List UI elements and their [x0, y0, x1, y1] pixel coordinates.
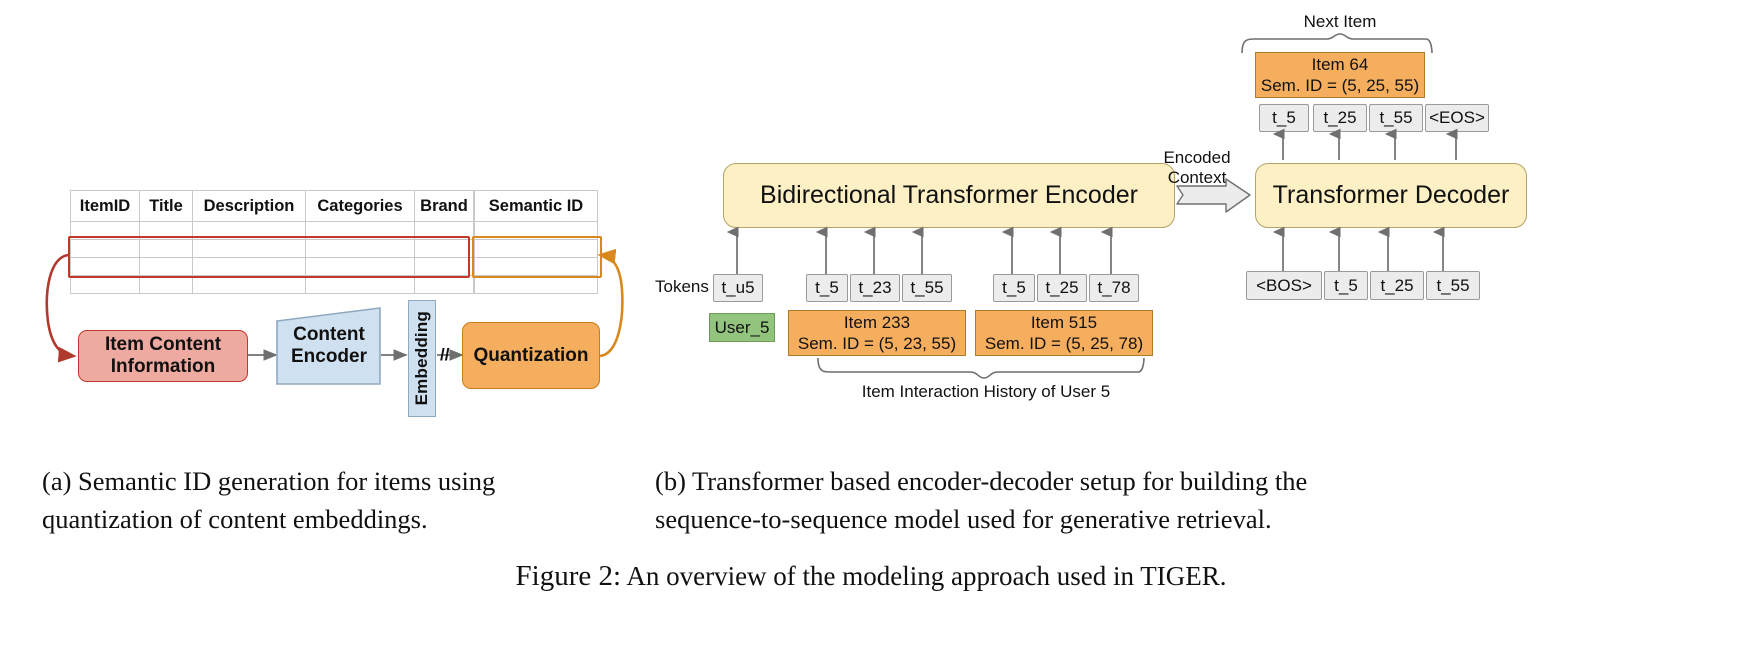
panel-b-caption-line1: (b) Transformer based encoder-decoder se… — [655, 462, 1515, 500]
figure-number: Figure 2: — [516, 560, 622, 592]
tokens-label: Tokens — [655, 277, 709, 297]
panel-b-caption: (b) Transformer based encoder-decoder se… — [655, 462, 1515, 539]
input-item-0-token-0: t_5 — [806, 274, 848, 302]
input-item-1-semantic-id: Sem. ID = (5, 25, 78) — [985, 333, 1143, 354]
panel-a-caption-line2: quantization of content embeddings. — [42, 500, 642, 538]
input-item-1-box: Item 515 Sem. ID = (5, 25, 78) — [975, 310, 1153, 356]
decoder-input-2: t_25 — [1370, 271, 1424, 300]
panel-b-caption-line2: sequence-to-sequence model used for gene… — [655, 500, 1515, 538]
input-item-1-token-2: t_78 — [1089, 274, 1139, 302]
decoder-input-1: t_5 — [1324, 271, 1368, 300]
user-token: t_u5 — [713, 274, 763, 302]
panel-a-caption: (a) Semantic ID generation for items usi… — [42, 462, 642, 539]
input-item-0-semantic-id: Sem. ID = (5, 23, 55) — [798, 333, 956, 354]
panel-a-caption-line1: (a) Semantic ID generation for items usi… — [42, 462, 642, 500]
input-item-1-title: Item 515 — [1031, 312, 1097, 333]
input-item-0-token-1: t_23 — [850, 274, 900, 302]
input-item-0-box: Item 233 Sem. ID = (5, 23, 55) — [788, 310, 966, 356]
figure-caption-text: An overview of the modeling approach use… — [626, 561, 1226, 591]
input-item-1-token-0: t_5 — [993, 274, 1035, 302]
user-box: User_5 — [709, 313, 775, 342]
history-label: Item Interaction History of User 5 — [820, 382, 1152, 402]
figure-canvas: ItemID Title Description Categories Bran… — [0, 0, 1742, 670]
input-item-0-title: Item 233 — [844, 312, 910, 333]
input-item-0-token-2: t_55 — [902, 274, 952, 302]
decoder-input-3: t_55 — [1426, 271, 1480, 300]
input-item-1-token-1: t_25 — [1037, 274, 1087, 302]
decoder-input-0: <BOS> — [1246, 271, 1322, 300]
figure-caption: Figure 2: An overview of the modeling ap… — [0, 560, 1742, 593]
history-brace — [816, 356, 1152, 380]
